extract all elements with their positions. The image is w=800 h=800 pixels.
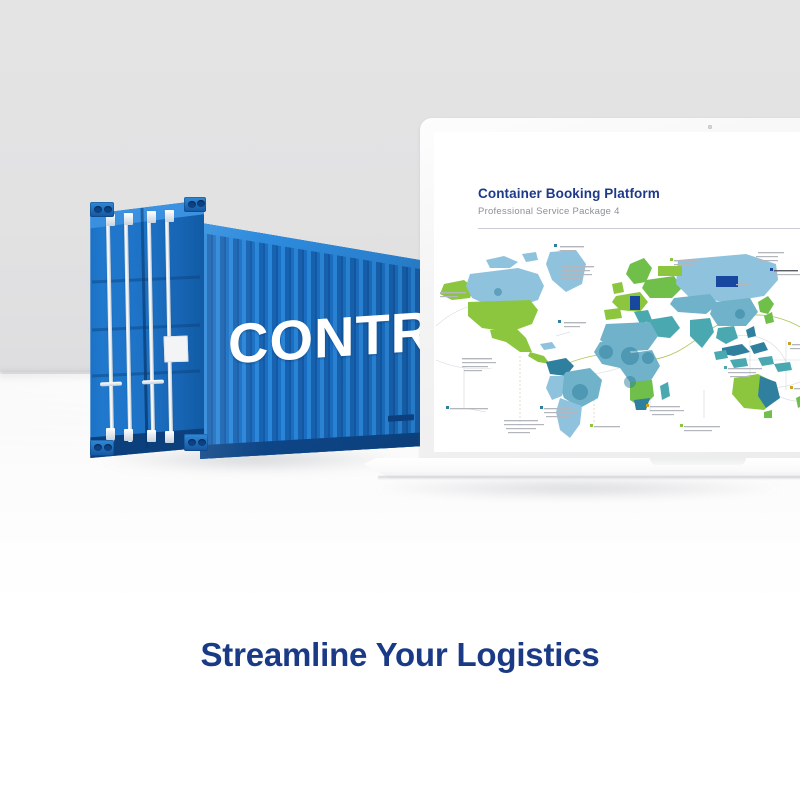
container-casting-hole [197,200,205,207]
promo-scene: CONTRACT [0,0,800,800]
container-rod-cap [165,431,174,443]
container-rod-cap [106,428,115,440]
webcam-icon [708,125,712,129]
container-casting-hole [94,444,102,451]
container-casting-hole [198,439,206,446]
container-casting-hole [188,439,196,446]
container-rod-cap [147,430,156,442]
slide-title: Container Booking Platform [478,186,660,201]
slide-divider [478,228,800,229]
slide-subtitle: Professional Service Package 4 [478,206,620,217]
presentation-slide: Container Booking Platform Professional … [434,132,800,452]
laptop-base-edge [378,476,800,480]
container-casting-hole [104,444,112,451]
container-rod-cap [124,213,133,225]
laptop-shadow [370,478,800,504]
container-rod-cap [147,211,156,223]
container-casting-hole [188,201,196,208]
container-id-plate [164,336,189,363]
container-casting-hole [94,206,102,213]
container-door-handle [142,380,164,385]
laptop-screen[interactable]: Container Booking Platform Professional … [434,132,800,452]
container-door-handle [100,382,122,387]
container-rod-cap [165,210,174,222]
container-casting-hole [104,206,112,213]
page-headline: Streamline Your Logistics [0,636,800,674]
world-map-infographic [434,240,800,446]
container-rod-cap [124,429,133,441]
laptop-base-notch [650,458,746,465]
laptop: Container Booking Platform Professional … [364,118,800,508]
